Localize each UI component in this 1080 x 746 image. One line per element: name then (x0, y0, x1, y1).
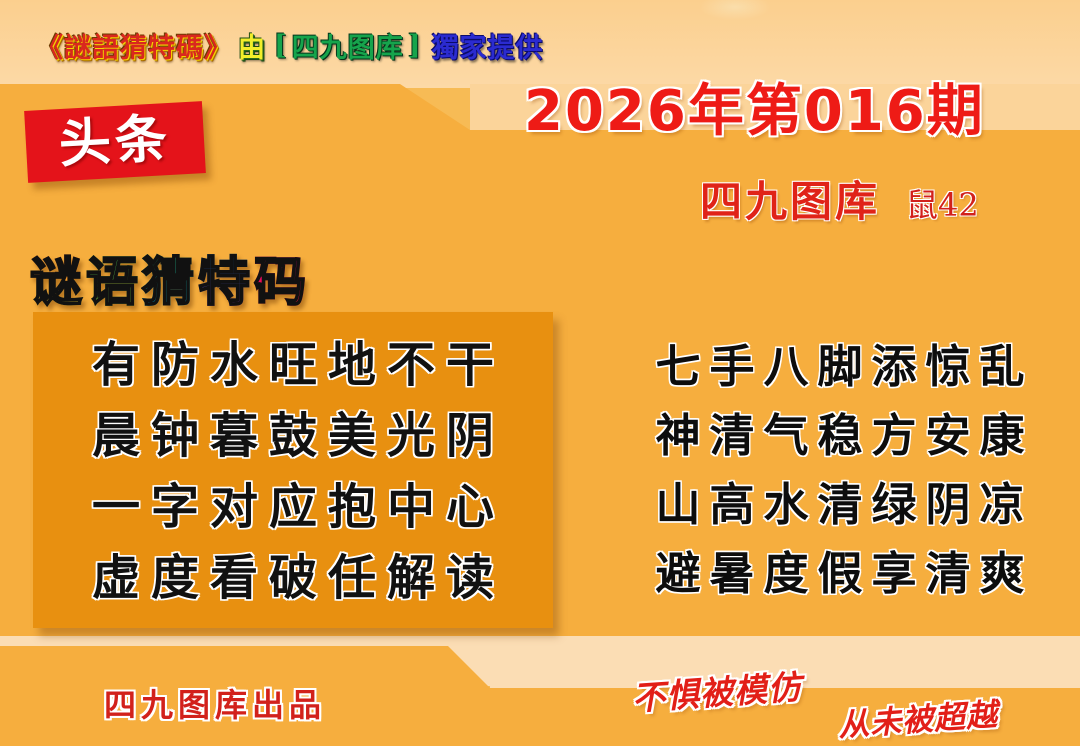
rainbow-char-0: 谜 (30, 253, 86, 313)
poem-line: 一字对应抱中心 (33, 472, 553, 543)
header-exclusive-supply: 獨家提供 (432, 26, 544, 65)
right-verse-line: 七手八脚添惊乱 (612, 332, 1068, 401)
right-verse-line: 神清气稳方安康 (612, 401, 1068, 470)
header-bracket-close: ] (408, 30, 422, 61)
headline-badge: 头条 (24, 101, 206, 183)
header-by-word: 由 (238, 26, 266, 65)
rainbow-char-4: 码 (254, 253, 310, 313)
header-riddle-title: 《謎語猜特碼》 (36, 26, 232, 65)
riddle-poem-panel: 有防水旺地不干 晨钟暮鼓美光阴 一字对应抱中心 虚度看破任解读 (33, 312, 553, 628)
brand-row: 四九图库 鼠42 (700, 168, 979, 229)
rainbow-char-3: 特 (198, 253, 254, 313)
header-bracket-open: [ (274, 30, 288, 61)
header-source-name: 四九图库 (292, 26, 404, 65)
header-credit-line: 《謎語猜特碼》由[四九图库]獨家提供 (36, 26, 544, 65)
right-verse-line: 山高水清绿阴凉 (612, 470, 1068, 539)
right-verse-line: 避暑度假享清爽 (612, 539, 1068, 608)
rainbow-char-1: 语 (86, 253, 142, 313)
poem-line: 晨钟暮鼓美光阴 (33, 401, 553, 472)
poem-line: 虚度看破任解读 (33, 543, 553, 614)
poem-line: 有防水旺地不干 (33, 330, 553, 401)
zodiac-number: 鼠42 (906, 180, 979, 226)
headline-badge-label: 头条 (58, 113, 173, 171)
footer-produced-by: 四九图库出品 (104, 680, 326, 726)
brand-name: 四九图库 (700, 168, 880, 229)
issue-number-title: 2026年第016期 (524, 66, 985, 147)
rainbow-char-2: 猜 (142, 253, 198, 313)
rainbow-headline: 谜语猜特码 (30, 240, 310, 315)
poster-canvas: 《謎語猜特碼》由[四九图库]獨家提供 头条 2026年第016期 四九图库 鼠4… (0, 0, 1080, 746)
right-verse-block: 七手八脚添惊乱 神清气稳方安康 山高水清绿阴凉 避暑度假享清爽 (612, 332, 1068, 608)
